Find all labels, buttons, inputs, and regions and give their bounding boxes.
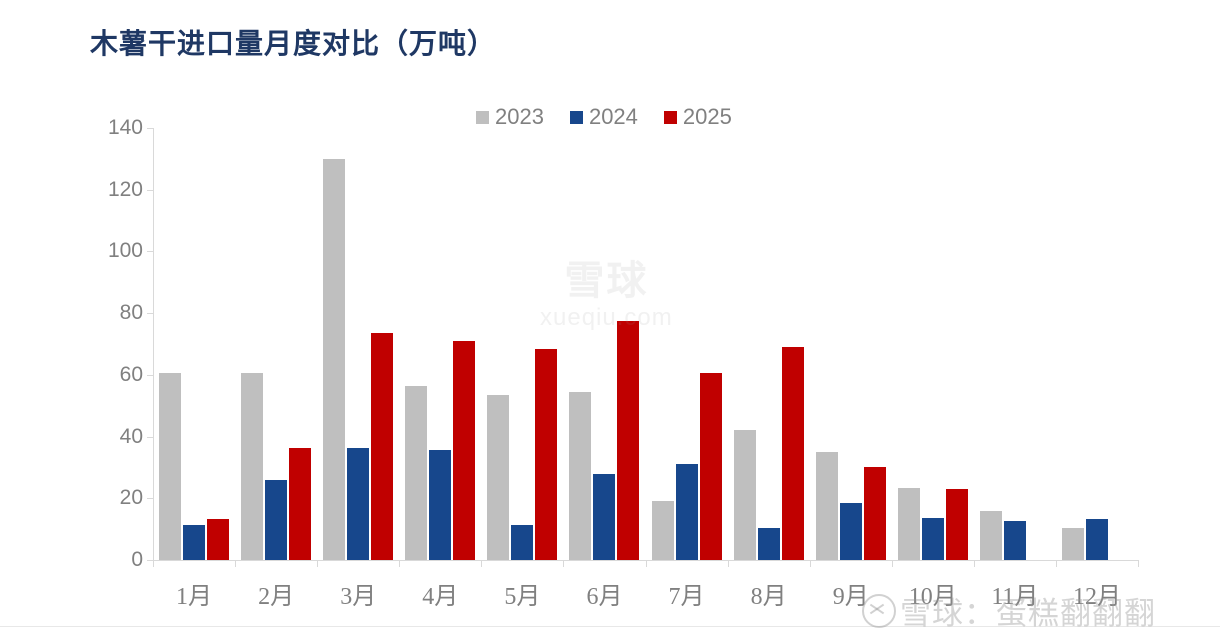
bar-2025-7月[interactable] [700, 373, 722, 560]
bar-2025-6月[interactable] [617, 321, 639, 560]
month-group: 8月 [728, 128, 810, 560]
month-group: 1月 [153, 128, 235, 560]
legend-item-2023: 2023 [476, 106, 544, 128]
legend-label: 2024 [589, 106, 638, 128]
bar-2023-3月[interactable] [323, 159, 345, 560]
bar-cluster [1056, 128, 1138, 560]
bar-cluster [481, 128, 563, 560]
bar-2025-9月[interactable] [864, 467, 886, 560]
bar-cluster [399, 128, 481, 560]
bar-2024-8月[interactable] [758, 528, 780, 560]
bar-cluster [317, 128, 399, 560]
x-tick-mark [481, 560, 482, 567]
x-tick-mark [646, 560, 647, 567]
x-tick-label: 4月 [399, 576, 481, 611]
bar-cluster [728, 128, 810, 560]
x-tick-mark [728, 560, 729, 567]
bar-2024-9月[interactable] [840, 503, 862, 560]
x-tick-mark [317, 560, 318, 567]
month-group: 12月 [1056, 128, 1138, 560]
bar-2024-5月[interactable] [511, 525, 533, 560]
bar-2023-1月[interactable] [159, 373, 181, 560]
bar-cluster [810, 128, 892, 560]
bar-2025-8月[interactable] [782, 347, 804, 560]
x-tick-mark [892, 560, 893, 567]
bar-2024-11月[interactable] [1004, 521, 1026, 560]
month-group: 4月 [399, 128, 481, 560]
month-group: 11月 [974, 128, 1056, 560]
bar-cluster [892, 128, 974, 560]
bar-cluster [974, 128, 1056, 560]
x-tick-label: 1月 [153, 576, 235, 611]
x-tick-mark [235, 560, 236, 567]
bar-cluster [646, 128, 728, 560]
bar-2024-6月[interactable] [593, 474, 615, 560]
bar-2024-2月[interactable] [265, 480, 287, 560]
x-tick-mark [810, 560, 811, 567]
bar-cluster [563, 128, 645, 560]
x-tick-mark [399, 560, 400, 567]
y-tick-label: 140 [108, 116, 143, 140]
month-group: 7月 [646, 128, 728, 560]
x-tick-mark [1056, 560, 1057, 567]
page-title: 木薯干进口量月度对比（万吨） [90, 22, 496, 62]
bar-2025-1月[interactable] [207, 519, 229, 560]
bar-2023-5月[interactable] [487, 395, 509, 560]
plot-area: 1401201008060402001月2月3月4月5月6月7月8月9月10月1… [153, 128, 1138, 560]
bar-2024-1月[interactable] [183, 525, 205, 560]
y-tick-label: 120 [108, 178, 143, 202]
bar-2023-12月[interactable] [1062, 528, 1084, 560]
bar-cluster [153, 128, 235, 560]
legend-label: 2023 [495, 106, 544, 128]
legend-label: 2025 [683, 106, 732, 128]
bar-2023-7月[interactable] [652, 501, 674, 560]
bar-2023-11月[interactable] [980, 511, 1002, 560]
legend-item-2024: 2024 [570, 106, 638, 128]
y-tick-label: 40 [120, 425, 143, 449]
month-group: 9月 [810, 128, 892, 560]
month-group: 5月 [481, 128, 563, 560]
bar-2025-5月[interactable] [535, 349, 557, 560]
x-tick-mark [1138, 560, 1139, 567]
bar-2023-6月[interactable] [569, 392, 591, 560]
legend-swatch-icon [476, 111, 489, 124]
y-tick-label: 60 [120, 363, 143, 387]
month-group: 3月 [317, 128, 399, 560]
x-tick-mark [563, 560, 564, 567]
bar-2025-10月[interactable] [946, 489, 968, 560]
bar-2025-4月[interactable] [453, 341, 475, 560]
x-tick-label: 10月 [892, 576, 974, 611]
bar-2023-9月[interactable] [816, 452, 838, 560]
bar-2024-4月[interactable] [429, 450, 451, 560]
x-tick-label: 2月 [235, 576, 317, 611]
chart-page: 木薯干进口量月度对比（万吨） 雪球 xueqiu.com 20232024202… [0, 0, 1220, 643]
bar-2023-2月[interactable] [241, 373, 263, 560]
bar-2024-3月[interactable] [347, 448, 369, 560]
legend-swatch-icon [664, 111, 677, 124]
bar-2023-8月[interactable] [734, 430, 756, 560]
x-tick-label: 8月 [728, 576, 810, 611]
x-tick-label: 6月 [563, 576, 645, 611]
y-tick-label: 80 [120, 301, 143, 325]
bar-2025-2月[interactable] [289, 448, 311, 560]
y-tick-label: 100 [108, 239, 143, 263]
x-tick-mark [974, 560, 975, 567]
y-tick-label: 0 [131, 548, 143, 572]
bar-2024-7月[interactable] [676, 464, 698, 560]
bar-2025-3月[interactable] [371, 333, 393, 560]
y-tick-label: 20 [120, 486, 143, 510]
x-tick-label: 3月 [317, 576, 399, 611]
bar-2024-12月[interactable] [1086, 519, 1108, 560]
chart-legend: 202320242025 [476, 106, 732, 128]
month-group: 6月 [563, 128, 645, 560]
x-tick-label: 11月 [974, 576, 1056, 611]
bar-cluster [235, 128, 317, 560]
month-group: 10月 [892, 128, 974, 560]
x-tick-label: 5月 [481, 576, 563, 611]
bar-2024-10月[interactable] [922, 518, 944, 560]
bar-2023-10月[interactable] [898, 488, 920, 561]
legend-item-2025: 2025 [664, 106, 732, 128]
x-tick-label: 12月 [1056, 576, 1138, 611]
legend-swatch-icon [570, 111, 583, 124]
panel-bottom-edge [0, 626, 1220, 643]
month-group: 2月 [235, 128, 317, 560]
x-tick-label: 7月 [646, 576, 728, 611]
x-tick-mark [153, 560, 154, 567]
bar-2023-4月[interactable] [405, 386, 427, 560]
x-tick-label: 9月 [810, 576, 892, 611]
